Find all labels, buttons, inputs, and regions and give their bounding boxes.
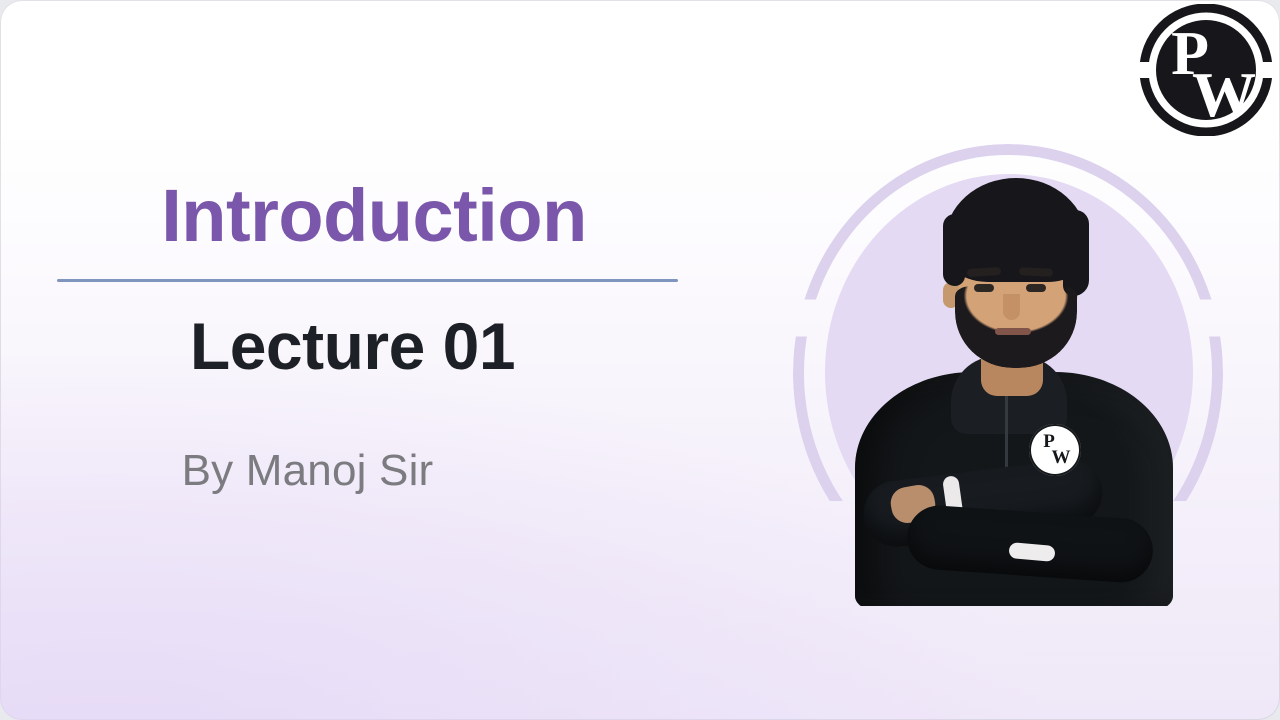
beard: [955, 286, 1077, 368]
mouth: [995, 328, 1031, 335]
title-block: Introduction Lecture 01 By Manoj Sir: [0, 178, 740, 496]
jacket-pw-badge-icon: P W: [1029, 424, 1081, 476]
slide-canvas: Introduction Lecture 01 By Manoj Sir: [0, 0, 1280, 720]
title-divider: [57, 279, 678, 282]
lecture-subtitle: Lecture 01: [0, 308, 740, 384]
presenter-byline: By Manoj Sir: [0, 446, 740, 496]
portrait-area: P W: [785, 138, 1235, 608]
page-title: Introduction: [0, 178, 740, 253]
badge-letter-w: W: [1052, 450, 1071, 466]
instructor-figure: P W: [833, 144, 1193, 606]
eyebrow-right: [1019, 267, 1053, 277]
pw-logo-icon: P W: [1140, 4, 1272, 136]
hair-right-side: [1063, 210, 1089, 296]
instructor-photo: P W: [833, 144, 1193, 606]
hair-left-side: [943, 214, 965, 286]
logo-letter-w: W: [1192, 59, 1256, 130]
